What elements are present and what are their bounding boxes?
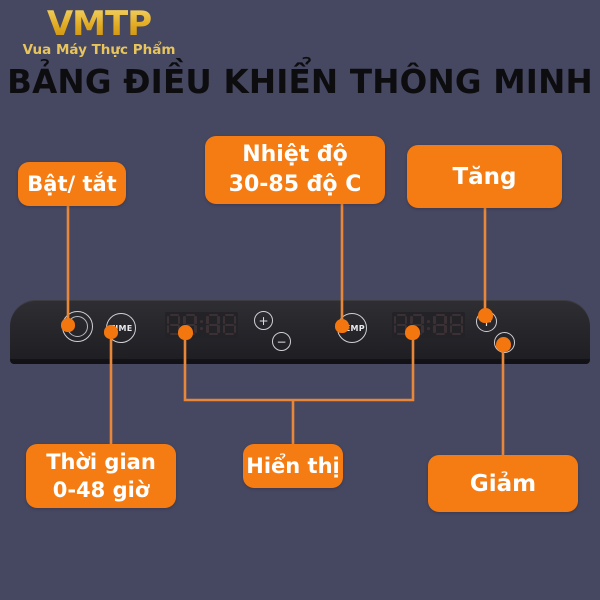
callout-temperature[interactable]: Nhiệt độ 30-85 độ C — [205, 136, 385, 204]
marker-dot-power — [61, 318, 75, 332]
brand-logo: VMTP Vua Máy Thực Phẩm — [14, 6, 184, 62]
marker-dot-decrease — [496, 337, 511, 352]
time-display — [165, 312, 238, 338]
logo-wordmark: VMTP — [14, 6, 184, 42]
callout-increase[interactable]: Tăng — [407, 145, 562, 208]
marker-dot-display-right — [405, 325, 420, 340]
marker-dot-increase — [478, 308, 493, 323]
callout-timer-line-2: 0-48 giờ — [53, 476, 150, 504]
minus-icon: − — [276, 336, 286, 348]
callout-timer-line-1: Thời gian — [46, 448, 156, 476]
logo-tagline: Vua Máy Thực Phẩm — [14, 41, 184, 59]
seg-colon — [200, 314, 204, 336]
seg-digit — [223, 314, 236, 336]
callout-display[interactable]: Hiển thị — [243, 444, 343, 488]
callout-temperature-line-1: Nhiệt độ — [242, 140, 348, 170]
callout-timer[interactable]: Thời gian 0-48 giờ — [26, 444, 176, 508]
marker-dot-display-left — [178, 325, 193, 340]
callout-increase-line-1: Tăng — [452, 163, 516, 191]
temperature-display — [392, 312, 465, 338]
callout-power-line-1: Bật/ tắt — [27, 171, 116, 197]
seg-colon — [427, 314, 431, 336]
control-panel: TIME TEMP + − + − — [10, 300, 590, 364]
page-title: BẢNG ĐIỀU KHIỂN THÔNG MINH — [0, 62, 600, 102]
seg-digit — [433, 314, 446, 336]
callout-display-line-1: Hiển thị — [246, 453, 339, 479]
marker-dot-time — [104, 325, 118, 339]
infographic-canvas: VMTP Vua Máy Thực Phẩm BẢNG ĐIỀU KHIỂN T… — [0, 0, 600, 600]
time-decrease-button[interactable]: − — [272, 332, 291, 351]
callout-temperature-line-2: 30-85 độ C — [229, 170, 362, 200]
seg-digit — [206, 314, 219, 336]
plus-icon: + — [258, 315, 268, 327]
callout-decrease[interactable]: Giảm — [428, 455, 578, 512]
callout-decrease-line-1: Giảm — [470, 470, 536, 498]
seg-digit — [450, 314, 463, 336]
time-increase-button[interactable]: + — [254, 311, 273, 330]
callout-power[interactable]: Bật/ tắt — [18, 162, 126, 206]
marker-dot-temp — [335, 319, 349, 333]
